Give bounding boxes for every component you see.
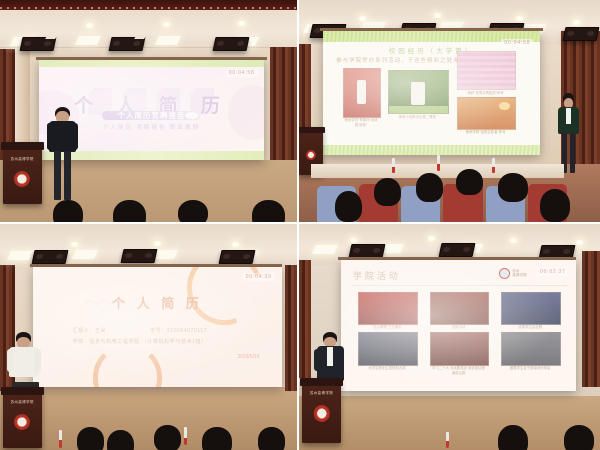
slide-pill-text: 个人简历竞聘报告 — [117, 110, 185, 121]
slide-college-activities: 学院活动 "五心教育"卫生服务 迎新活动 优秀学生会合照 大学生职业生涯规划大赛… — [341, 260, 576, 391]
slide-photo — [430, 332, 488, 365]
panel-top-left: 个 人 简 历 个人简历竞聘报告 个人简历 竞聘报告 职业规划 00:04:58… — [0, 0, 299, 224]
water-bottle — [184, 427, 187, 445]
slide-photo — [343, 68, 382, 117]
audience-head — [154, 425, 181, 450]
audience-head — [258, 427, 285, 450]
audience-head — [498, 173, 528, 202]
podium: 苏州高博学院 — [3, 387, 42, 448]
audience-head — [564, 425, 594, 450]
slide-photo — [358, 332, 419, 365]
timer-overlay: 00:02:37 — [537, 268, 569, 276]
slide-main-title: 个 人 简 历 — [33, 293, 282, 312]
podium: 苏州高博学院 — [3, 142, 42, 204]
slide-photo — [358, 292, 419, 325]
presenter — [555, 93, 582, 173]
ceiling-speaker — [562, 27, 599, 41]
audience-head — [202, 427, 232, 450]
slide-field-list: 汇报人：王昊 学号：210054070117 学院：信息与机电工程学院 （计算机… — [73, 326, 263, 349]
school-seal-icon — [499, 268, 510, 279]
podium: 苏州高博学院 — [302, 378, 341, 444]
audience-head — [178, 200, 208, 224]
audience-head — [540, 189, 570, 222]
audience-head — [335, 191, 362, 222]
water-bottle — [392, 158, 395, 174]
ceiling-speaker — [31, 250, 68, 264]
audience-head — [107, 430, 134, 450]
slide-photo-caption: 迎新活动 — [430, 324, 486, 329]
projection-screen: 学院活动 "五心教育"卫生服务 迎新活动 优秀学生会合照 大学生职业生涯规划大赛… — [341, 260, 576, 391]
audience-head — [374, 178, 401, 207]
water-bottle — [437, 155, 440, 171]
slide-title: 学院活动 — [353, 269, 401, 282]
slide-photo — [457, 97, 515, 130]
slide-photo-caption: 荣获十佳歌手比赛二等奖 — [388, 114, 447, 119]
slide-date: 2023/5/16 — [237, 354, 259, 360]
projection-screen: 个 人 简 历 汇报人：王昊 学号：210054070117 学院：信息与机电工… — [33, 267, 282, 387]
badge-line-2: 高博学院 — [512, 274, 526, 278]
timer-overlay: 00:04:58 — [226, 69, 258, 77]
projection-screen: 校园经历（大学篇） 参与学院举办系列活动，于这些精彩之处寻找—— 荣获学院"青春… — [323, 31, 540, 155]
slide-photo-caption: 优秀学生会合照 — [501, 324, 560, 329]
curtain-right — [285, 265, 297, 392]
ceiling-speaker — [439, 243, 476, 257]
curtain-right — [582, 251, 600, 387]
ceiling-red-trim — [0, 0, 297, 10]
slide-resume-detail: 个 人 简 历 汇报人：王昊 学号：210054070117 学院：信息与机电工… — [33, 267, 282, 387]
panel-bottom-right: 学院活动 "五心教育"卫生服务 迎新活动 优秀学生会合照 大学生职业生涯规划大赛… — [299, 224, 600, 450]
slide-photo-caption: 团委学生会干部培训分享会 — [501, 365, 560, 370]
slide-photo-caption: 大学生职业生涯规划大赛 — [358, 365, 417, 370]
slide-photo-caption: 荣获"优秀共青团员"称号 — [457, 90, 513, 95]
audience-head — [252, 200, 285, 224]
water-bottle — [59, 430, 62, 448]
podium-label: 苏州高博学院 — [3, 156, 42, 161]
school-logo-badge: 苏州 高博学院 — [499, 268, 526, 279]
water-bottle — [492, 158, 495, 174]
audience-head — [77, 427, 104, 450]
slide-footer-band — [323, 145, 540, 155]
field-value-college: 信息与机电工程学院 （计算机科学与技术1班） — [89, 339, 206, 345]
slide-photo — [388, 70, 449, 114]
audience-head — [456, 169, 483, 196]
ceiling-speaker — [120, 249, 157, 263]
panel-top-right: 校园经历（大学篇） 参与学院举办系列活动，于这些精彩之处寻找—— 荣获学院"青春… — [299, 0, 600, 224]
slide-photo-caption: 荣获学院"青春杯"排球赛"冠军" — [343, 117, 380, 127]
slide-photo — [430, 292, 488, 325]
audience-head — [498, 425, 528, 450]
field-value-reporter: 王昊 — [95, 328, 106, 334]
slide-campus-experience: 校园经历（大学篇） 参与学院举办系列活动，于这些精彩之处寻找—— 荣获学院"青春… — [323, 31, 540, 155]
presenter — [42, 107, 84, 205]
podium-label: 苏州高博学院 — [3, 399, 42, 404]
timer-overlay: 00:04:39 — [243, 273, 275, 281]
timer-overlay: 00:04:58 — [501, 39, 533, 47]
slide-pill-banner: 个人简历竞聘报告 — [102, 111, 201, 120]
slide-photo-caption: 荣获学院"优秀志愿者"称号 — [457, 129, 513, 134]
slide-band-top — [39, 60, 265, 67]
field-value-studentid: 210054070117 — [167, 328, 207, 334]
slide-photo-caption: 学习二十大 永远跟党走 奋进新征程 演讲比赛 — [430, 365, 486, 375]
photo-collage-grid: 个 人 简 历 个人简历竞聘报告 个人简历 竞聘报告 职业规划 00:04:58… — [0, 0, 600, 450]
slide-photo — [501, 332, 562, 365]
slide-photo-caption: "五心教育"卫生服务 — [358, 324, 417, 329]
curtain-left — [299, 260, 311, 378]
audience-head — [416, 173, 443, 202]
field-label-college: 学院： — [73, 339, 90, 345]
audience-head — [53, 200, 83, 224]
ceiling-speaker — [218, 250, 255, 264]
ceiling-speaker — [212, 37, 249, 51]
field-label-studentid: 学号： — [150, 328, 167, 334]
podium-label: 苏州高博学院 — [302, 390, 341, 395]
curtain-right — [270, 47, 297, 171]
slide-photo — [501, 292, 562, 325]
audience-head — [113, 200, 146, 224]
slide-photo — [457, 51, 515, 90]
field-label-reporter: 汇报人： — [73, 328, 95, 334]
panel-bottom-left: 个 人 简 历 汇报人：王昊 学号：210054070117 学院：信息与机电工… — [0, 224, 299, 450]
